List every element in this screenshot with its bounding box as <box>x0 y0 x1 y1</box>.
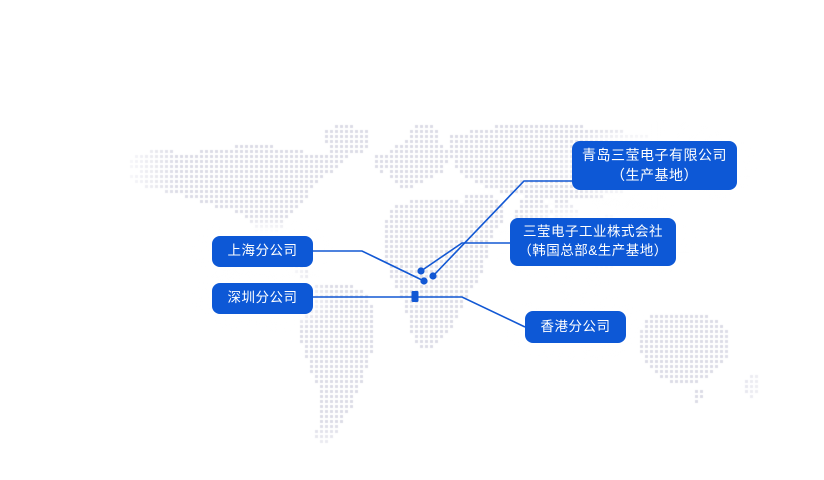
label-qingdao-line1: 青岛三莹电子有限公司 <box>582 146 727 165</box>
connector-hongkong <box>415 297 525 327</box>
map-marker-korea[interactable] <box>417 267 424 274</box>
connector-lines <box>0 0 824 480</box>
connector-korea <box>421 243 510 271</box>
label-korea-line1: 三莹电子工业株式会社 <box>523 223 663 242</box>
connector-shanghai <box>313 251 424 281</box>
label-korea-line2: （韩国总部&生产基地） <box>518 242 668 261</box>
label-korea[interactable]: 三莹电子工业株式会社 （韩国总部&生产基地） <box>510 218 676 266</box>
label-hongkong-line1: 香港分公司 <box>541 318 611 337</box>
label-shanghai-line1: 上海分公司 <box>228 242 298 261</box>
label-qingdao[interactable]: 青岛三莹电子有限公司 （生产基地） <box>572 141 737 190</box>
label-shenzhen-line1: 深圳分公司 <box>228 289 298 308</box>
label-shanghai[interactable]: 上海分公司 <box>212 236 313 267</box>
map-marker-qingdao[interactable] <box>429 272 436 279</box>
map-marker-shanghai[interactable] <box>420 277 427 284</box>
label-hongkong[interactable]: 香港分公司 <box>525 311 626 343</box>
label-shenzhen[interactable]: 深圳分公司 <box>212 283 313 314</box>
world-map-infographic: 青岛三莹电子有限公司 （生产基地） 三莹电子工业株式会社 （韩国总部&生产基地）… <box>0 0 824 480</box>
label-qingdao-line2: （生产基地） <box>611 166 698 185</box>
map-marker-shenzhen-hongkong[interactable] <box>412 291 419 302</box>
